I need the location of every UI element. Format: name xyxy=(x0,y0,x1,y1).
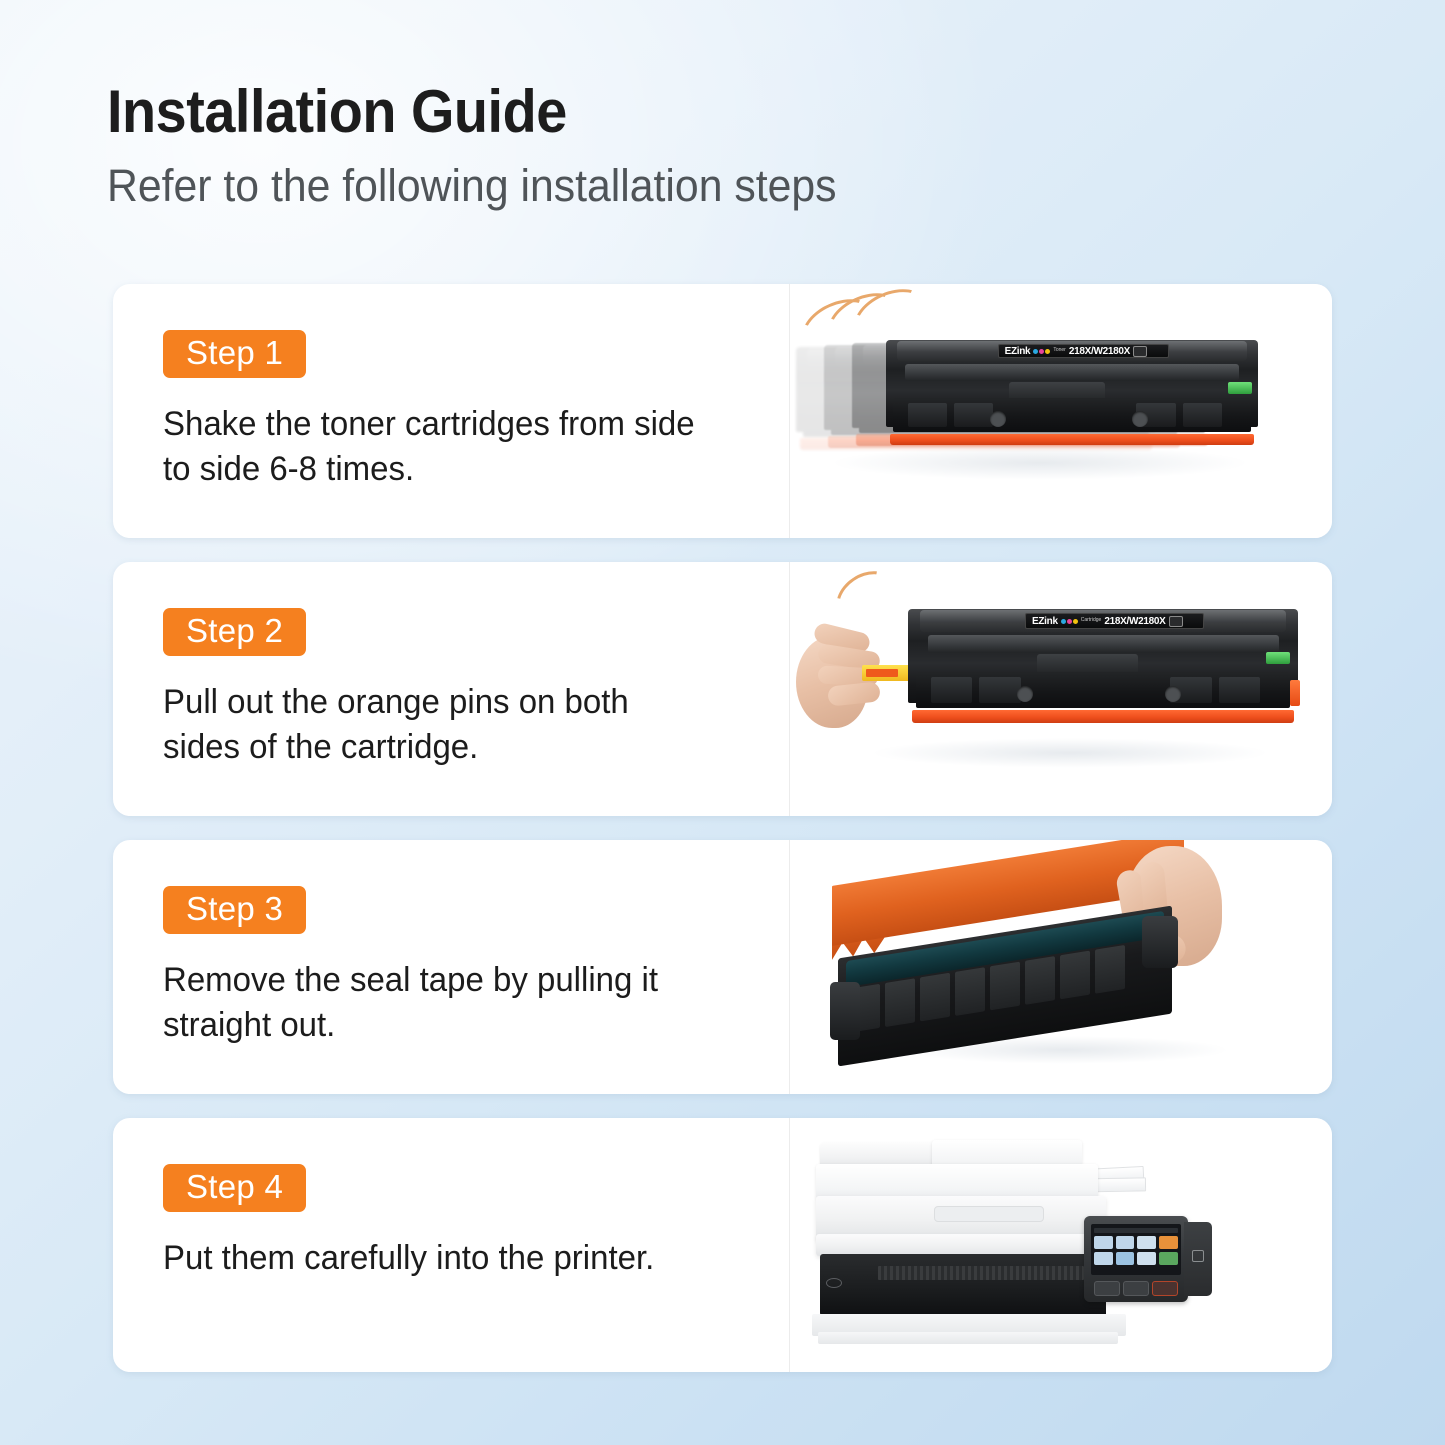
step-card-2: Step 2 Pull out the orange pins on both … xyxy=(113,562,1332,816)
step-2-text-panel: Step 2 Pull out the orange pins on both … xyxy=(113,562,790,816)
screen-app-icons[interactable] xyxy=(1094,1236,1177,1265)
app-icon-scan-email xyxy=(1094,1252,1113,1265)
step-1-badge: Step 1 xyxy=(163,330,306,378)
cartridge-brand: EZink xyxy=(1032,616,1058,627)
touchscreen[interactable] xyxy=(1091,1224,1180,1276)
steps-list: Step 1 Shake the toner cartridges from s… xyxy=(113,284,1332,1396)
app-icon-supplies xyxy=(1159,1236,1178,1249)
step-3-badge: Step 3 xyxy=(163,886,306,934)
feeder-tray xyxy=(816,1164,1098,1200)
laser-printer xyxy=(812,1128,1252,1372)
step-1-image: EZink Toner 218X/W2180X xyxy=(790,284,1332,538)
step-2-image: EZink Cartridge 218X/W2180X xyxy=(790,562,1332,816)
step-card-4: Step 4 Put them carefully into the print… xyxy=(113,1118,1332,1372)
printer-body-lower xyxy=(816,1234,1106,1256)
front-cover-handle xyxy=(934,1206,1044,1222)
stop-button[interactable] xyxy=(1152,1281,1178,1296)
thumb xyxy=(827,681,881,706)
step-card-3: Step 3 Remove the seal tape by pulling i… xyxy=(113,840,1332,1094)
cmyk-dots-icon xyxy=(1033,349,1050,354)
app-icon-print xyxy=(1094,1236,1113,1249)
cartridge-brand: EZink xyxy=(1005,346,1031,357)
screen-status-bar xyxy=(1094,1228,1177,1233)
app-icon-scan-usb xyxy=(1137,1252,1156,1265)
cartridge-model: 218X/W2180X xyxy=(1104,616,1165,627)
step-3-text-panel: Step 3 Remove the seal tape by pulling i… xyxy=(113,840,790,1094)
drum-end-cap xyxy=(1142,916,1178,968)
cartridge-label: EZink Cartridge 218X/W2180X xyxy=(1025,613,1204,629)
output-tray-cavity xyxy=(838,1254,1106,1316)
page-title: Installation Guide xyxy=(107,80,1223,143)
page-subtitle: Refer to the following installation step… xyxy=(107,161,1247,211)
control-panel[interactable] xyxy=(1084,1216,1188,1302)
cartridge-type: Cartridge xyxy=(1081,618,1102,624)
chip-icon xyxy=(1169,616,1183,627)
toner-cartridge: EZink Toner 218X/W2180X xyxy=(886,324,1258,456)
drum-end-cap-left xyxy=(830,982,860,1040)
usb-icon xyxy=(1192,1250,1204,1262)
cartridge-label: EZink Toner 218X/W2180X xyxy=(998,344,1169,359)
step-2-description: Pull out the orange pins on both sides o… xyxy=(163,680,706,770)
cartridge-model: 218X/W2180X xyxy=(1069,346,1130,357)
chip-icon xyxy=(1133,346,1147,357)
step-2-badge: Step 2 xyxy=(163,608,306,656)
nfc-icon xyxy=(826,1278,842,1288)
orange-pin-right xyxy=(1290,680,1300,706)
paper-exit-slot xyxy=(878,1266,1084,1280)
header: Installation Guide Refer to the followin… xyxy=(107,80,1307,211)
step-4-badge: Step 4 xyxy=(163,1164,306,1212)
step-4-image xyxy=(790,1118,1332,1372)
step-3-description: Remove the seal tape by pulling it strai… xyxy=(163,958,706,1048)
toner-cartridge: EZink Cartridge 218X/W2180X xyxy=(908,592,1298,734)
cmyk-dots-icon xyxy=(1061,619,1078,624)
cartridge-shadow xyxy=(870,738,1270,768)
app-icon-eco xyxy=(1159,1252,1178,1265)
app-icon-scan-network xyxy=(1116,1252,1135,1265)
cartridge-type: Toner xyxy=(1053,348,1066,354)
step-1-text-panel: Step 1 Shake the toner cartridges from s… xyxy=(113,284,790,538)
help-button[interactable] xyxy=(1123,1281,1149,1296)
step-4-text-panel: Step 4 Put them carefully into the print… xyxy=(113,1118,790,1372)
app-icon-fax xyxy=(1116,1236,1135,1249)
app-icon-copy xyxy=(1137,1236,1156,1249)
printer-foot xyxy=(818,1332,1118,1344)
step-4-description: Put them carefully into the printer. xyxy=(163,1236,706,1281)
home-button[interactable] xyxy=(1094,1281,1120,1296)
step-3-image xyxy=(790,840,1332,1094)
step-1-description: Shake the toner cartridges from side to … xyxy=(163,402,706,492)
panel-buttons[interactable] xyxy=(1092,1281,1179,1296)
pin-motion-arc xyxy=(826,562,906,636)
step-card-1: Step 1 Shake the toner cartridges from s… xyxy=(113,284,1332,538)
